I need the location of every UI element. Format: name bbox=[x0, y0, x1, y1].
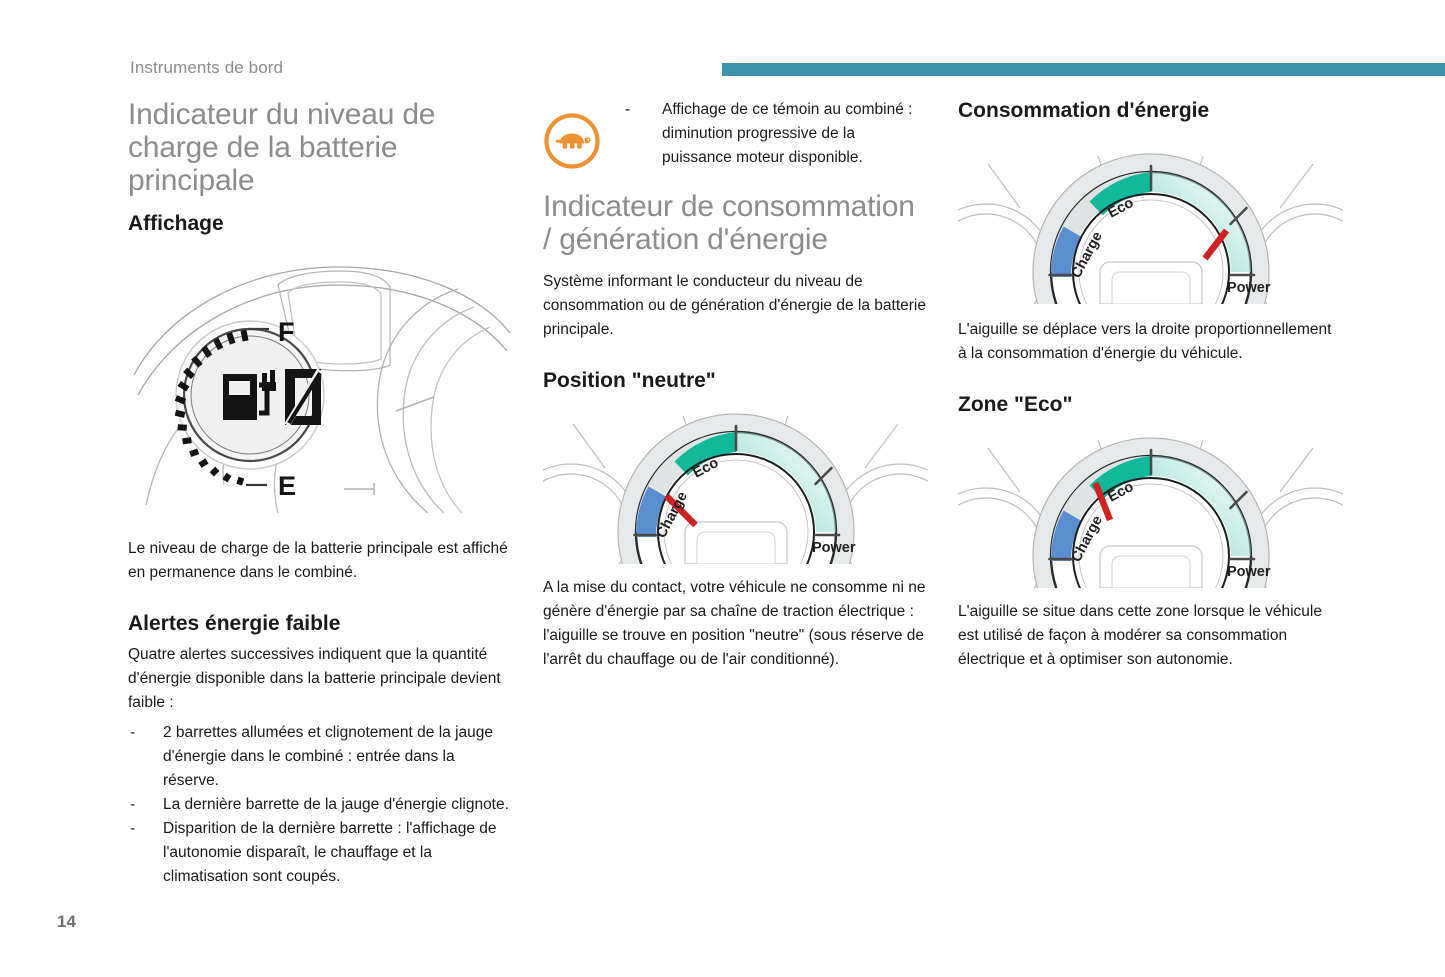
paragraph-consommation: L'aiguille se déplace vers la droite pro… bbox=[958, 318, 1343, 366]
column-middle: - Affichage de ce témoin au combiné : di… bbox=[543, 98, 928, 678]
heading-position-neutre: Position "neutre" bbox=[543, 368, 928, 394]
dash-bullet: - bbox=[130, 721, 135, 745]
heading-consommation-energie: Consommation d'énergie bbox=[958, 98, 1343, 124]
figure-energy-gauge-consumption: Charge Eco Power bbox=[958, 144, 1343, 304]
battery-display-dial: F E bbox=[175, 317, 324, 501]
page-number: 14 bbox=[57, 912, 76, 932]
dash-bullet: - bbox=[130, 817, 135, 841]
warning-text: Affichage de ce témoin au combiné : dimi… bbox=[662, 101, 912, 166]
energy-gauge-neutral-illustration: Charge Eco Power bbox=[543, 404, 928, 564]
heading-zone-eco: Zone "Eco" bbox=[958, 392, 1343, 418]
label-power: Power bbox=[1227, 280, 1271, 296]
list-alertes: -2 barrettes allumées et clignotement de… bbox=[128, 721, 513, 889]
list-item: -La dernière barrette de la jauge d'éner… bbox=[128, 793, 513, 817]
column-right: Consommation d'énergie bbox=[958, 98, 1343, 678]
list-item: -2 barrettes allumées et clignotement de… bbox=[128, 721, 513, 793]
paragraph-alertes: Quatre alertes successives indiquent que… bbox=[128, 643, 513, 715]
warning-text-block: - Affichage de ce témoin au combiné : di… bbox=[625, 98, 928, 170]
battery-label-empty: E bbox=[278, 471, 296, 501]
heading-indicateur-consommation: Indicateur de consommation / génération … bbox=[543, 190, 928, 256]
dash-bullet: - bbox=[625, 98, 630, 122]
column-left: Indicateur du niveau de charge de la bat… bbox=[128, 98, 513, 889]
battery-label-full: F bbox=[278, 317, 295, 347]
turtle-icon bbox=[543, 112, 601, 170]
battery-digital-readout bbox=[285, 369, 321, 425]
paragraph-intro-consommation: Système informant le conducteur du nivea… bbox=[543, 270, 928, 342]
list-item-label: 2 barrettes allumées et clignotement de … bbox=[163, 724, 493, 789]
heading-affichage: Affichage bbox=[128, 211, 513, 237]
figure-energy-gauge-eco-zone: Charge Eco Power bbox=[958, 428, 1343, 588]
list-item: -Disparition de la dernière barrette : l… bbox=[128, 817, 513, 889]
paragraph-affichage: Le niveau de charge de la batterie princ… bbox=[128, 537, 513, 585]
energy-gauge-consumption-illustration: Charge Eco Power bbox=[958, 144, 1343, 304]
dash-bullet: - bbox=[130, 793, 135, 817]
running-head: Instruments de bord bbox=[130, 58, 283, 78]
paragraph-zone-eco: L'aiguille se situe dans cette zone lors… bbox=[958, 600, 1343, 672]
page-title: Indicateur du niveau de charge de la bat… bbox=[128, 98, 513, 197]
label-power: Power bbox=[812, 540, 856, 556]
manual-page: Instruments de bord Indicateur du niveau… bbox=[0, 0, 1445, 977]
heading-alertes-energie-faible: Alertes énergie faible bbox=[128, 611, 513, 637]
figure-energy-gauge-neutral: Charge Eco Power bbox=[543, 404, 928, 564]
warning-block-turtle: - Affichage de ce témoin au combiné : di… bbox=[543, 98, 928, 176]
list-item-label: La dernière barrette de la jauge d'énerg… bbox=[163, 796, 509, 813]
label-power: Power bbox=[1227, 564, 1271, 580]
battery-gauge-illustration: F E bbox=[128, 255, 513, 523]
paragraph-position-neutre: A la mise du contact, votre véhicule ne … bbox=[543, 576, 928, 672]
energy-gauge-eco-zone-illustration: Charge Eco Power bbox=[958, 428, 1343, 588]
header-rule bbox=[722, 63, 1445, 76]
figure-battery-charge-gauge: F E bbox=[128, 255, 513, 523]
list-item-label: Disparition de la dernière barrette : l'… bbox=[163, 820, 497, 885]
